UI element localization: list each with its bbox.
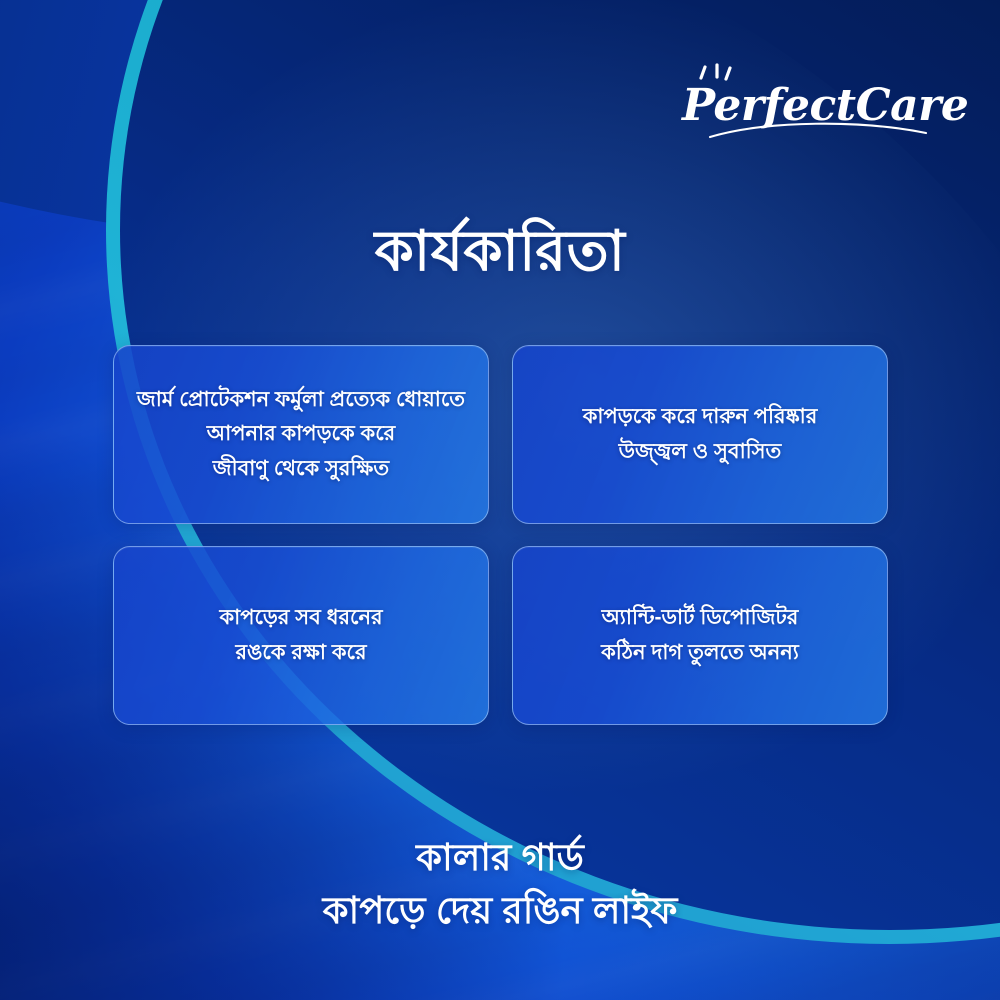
page-title-wrap: কার্যকারিতা (0, 218, 1000, 284)
benefit-card-clean-bright[interactable]: কাপড়কে করে দারুন পরিষ্কার উজ্জ্বল ও সুব… (512, 345, 888, 524)
benefit-card-germ-protection[interactable]: জার্ম প্রোটেকশন ফর্মুলা প্রত্যেক ধোয়াতে… (113, 345, 489, 524)
benefit-card-text: কাপড়কে করে দারুন পরিষ্কার উজ্জ্বল ও সুব… (583, 400, 818, 468)
footer-tagline-wrap: কালার গার্ড কাপড়ে দেয় রঙিন লাইফ (0, 832, 1000, 937)
sparkle-icon (701, 65, 730, 79)
benefit-card-color-protect[interactable]: কাপড়ের সব ধরনের রঙকে রক্ষা করে (113, 546, 489, 725)
brand-logo[interactable]: PerfectCare (676, 64, 936, 142)
footer-tagline: কালার গার্ড কাপড়ে দেয় রঙিন লাইফ (0, 832, 1000, 937)
benefit-card-anti-dirt[interactable]: অ্যান্টি-ডার্ট ডিপোজিটর কঠিন দাগ তুলতে অ… (512, 546, 888, 725)
benefits-grid: জার্ম প্রোটেকশন ফর্মুলা প্রত্যেক ধোয়াতে… (113, 345, 888, 725)
benefit-card-text: জার্ম প্রোটেকশন ফর্মুলা প্রত্যেক ধোয়াতে… (137, 383, 465, 485)
benefit-card-text: অ্যান্টি-ডার্ট ডিপোজিটর কঠিন দাগ তুলতে অ… (601, 601, 799, 669)
benefit-card-text: কাপড়ের সব ধরনের রঙকে রক্ষা করে (219, 601, 382, 669)
page-title: কার্যকারিতা (375, 218, 626, 284)
poster-canvas: PerfectCare কার্যকারিতা জার্ম প্রোটেকশন … (0, 0, 1000, 1000)
